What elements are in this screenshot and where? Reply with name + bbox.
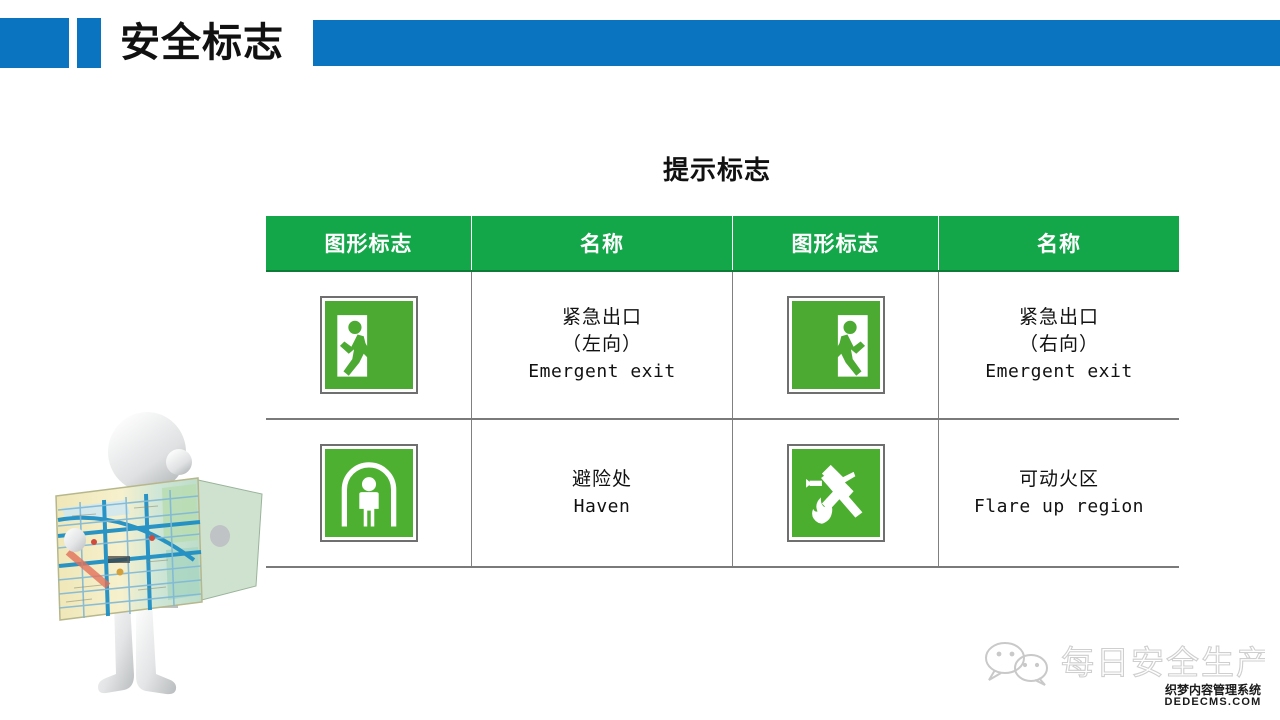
sign-name-cn-sub: （右向） [939, 332, 1179, 359]
header-accent-block-large [0, 18, 69, 68]
column-header-graphic-1: 图形标志 [266, 216, 472, 271]
sign-name-cn-sub: （左向） [472, 332, 732, 359]
sign-name-cn: 避险处 [472, 467, 732, 494]
cell-name-exit-right: 紧急出口 （右向） Emergent exit [939, 271, 1180, 419]
sign-name-cn: 可动火区 [939, 467, 1179, 494]
dedecms-watermark-cn: 织梦内容管理系统 [1152, 684, 1274, 697]
table-row: 紧急出口 （左向） Emergent exit [266, 271, 1179, 419]
cell-name-exit-left: 紧急出口 （左向） Emergent exit [472, 271, 733, 419]
column-header-graphic-2: 图形标志 [733, 216, 939, 271]
haven-shelter-icon [322, 446, 416, 540]
flare-up-region-icon [789, 446, 883, 540]
cell-graphic-exit-left [266, 271, 472, 419]
sign-name-en: Emergent exit [939, 359, 1179, 385]
sign-name-en: Haven [472, 494, 732, 520]
page-header: 安全标志 [0, 0, 1280, 90]
dedecms-watermark-en: DEDECMS.COM [1152, 697, 1274, 709]
dedecms-watermark: 织梦内容管理系统 DEDECMS.COM [1152, 684, 1274, 708]
svg-text:每日安全生产: 每日安全生产 [1061, 644, 1265, 681]
column-header-name-1: 名称 [472, 216, 733, 271]
table-row: 避险处 Haven [266, 419, 1179, 567]
page-title: 安全标志 [120, 16, 284, 70]
emergency-exit-right-icon [789, 298, 883, 392]
sign-name-cn: 紧急出口 [939, 305, 1179, 332]
cell-name-flare: 可动火区 Flare up region [939, 419, 1180, 567]
cell-name-haven: 避险处 Haven [472, 419, 733, 567]
emergency-exit-left-icon [322, 298, 416, 392]
header-accent-bar [313, 20, 1280, 66]
person-holding-map-figure [34, 390, 274, 710]
sign-name-cn: 紧急出口 [472, 305, 732, 332]
cell-graphic-exit-right [733, 271, 939, 419]
cell-graphic-haven [266, 419, 472, 567]
safety-sign-table: 图形标志 名称 图形标志 名称 [266, 216, 1179, 568]
table-header-row: 图形标志 名称 图形标志 名称 [266, 216, 1179, 271]
column-header-name-2: 名称 [939, 216, 1180, 271]
cell-graphic-flare [733, 419, 939, 567]
sign-name-en: Flare up region [939, 494, 1179, 520]
sign-name-en: Emergent exit [472, 359, 732, 385]
header-accent-block-small [77, 18, 101, 68]
wechat-watermark: 每日安全生产 [975, 640, 1265, 686]
section-title: 提示标志 [266, 150, 1168, 187]
